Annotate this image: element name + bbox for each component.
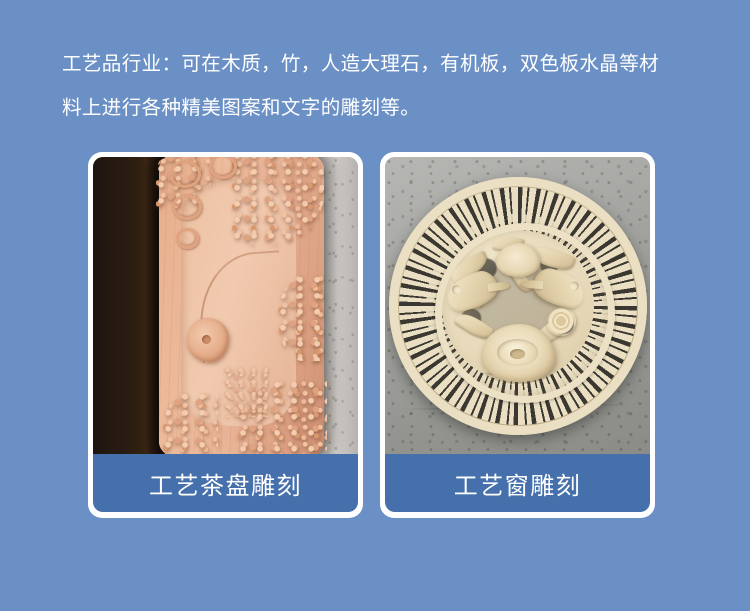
wooden-tray-body <box>159 157 323 454</box>
relief-carving-bottom-left <box>163 392 219 454</box>
round-carved-panel <box>389 177 647 435</box>
peony-bud-carving <box>496 243 540 277</box>
openwork-carving-field <box>440 228 596 384</box>
product-card-window-panel[interactable]: 工艺窗雕刻 <box>380 152 655 518</box>
product-card-tea-tray[interactable]: 工艺茶盘雕刻 <box>88 152 363 518</box>
peony-flower-carving <box>481 324 555 382</box>
scroll-curl-carving <box>176 228 199 249</box>
chrysanthemum-carving <box>546 306 576 336</box>
scroll-curl-carving <box>209 157 237 179</box>
flower-boss-carving <box>187 318 229 362</box>
page-root: 工艺品行业：可在木质，竹，人造大理石，有机板，双色板水晶等材 料上进行各种精美图… <box>0 0 750 611</box>
card-caption-tea-tray: 工艺茶盘雕刻 <box>93 454 358 512</box>
card-caption-window-panel: 工艺窗雕刻 <box>385 454 650 512</box>
carved-wooden-tea-tray-photo <box>93 157 358 454</box>
intro-paragraph: 工艺品行业：可在木质，竹，人造大理石，有机板，双色板水晶等材 料上进行各种精美图… <box>62 42 702 130</box>
intro-line-1: 工艺品行业：可在木质，竹，人造大理石，有机板，双色板水晶等材 <box>62 42 702 86</box>
intro-line-2: 料上进行各种精美图案和文字的雕刻等。 <box>62 86 702 130</box>
carved-round-window-panel-photo <box>385 157 650 454</box>
relief-carving-right-middle <box>278 275 327 361</box>
bird-carving-right <box>530 265 589 311</box>
product-card-row: 工艺茶盘雕刻 <box>88 152 656 518</box>
bead-cluster-carving <box>225 367 268 416</box>
